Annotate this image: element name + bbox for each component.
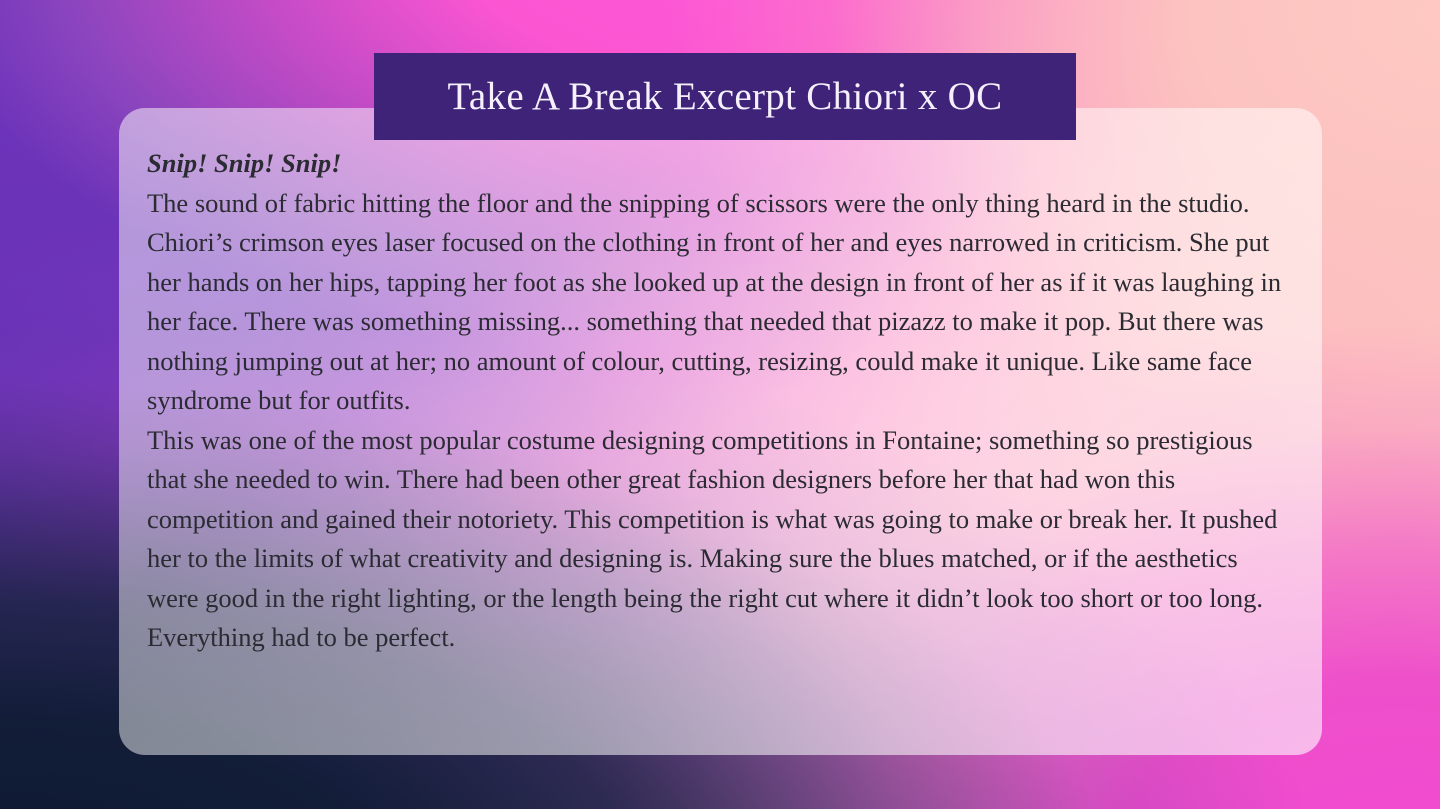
excerpt-paragraph-1: The sound of fabric hitting the floor an… xyxy=(147,184,1292,421)
page-root: Take A Break Excerpt Chiori x OC Snip! S… xyxy=(0,0,1440,809)
excerpt-lede: Snip! Snip! Snip! xyxy=(147,144,1292,184)
page-title: Take A Break Excerpt Chiori x OC xyxy=(448,77,1003,116)
excerpt-text-body: Snip! Snip! Snip! The sound of fabric hi… xyxy=(147,144,1292,658)
excerpt-card: Snip! Snip! Snip! The sound of fabric hi… xyxy=(119,108,1322,755)
excerpt-paragraph-2: This was one of the most popular costume… xyxy=(147,421,1292,658)
title-banner: Take A Break Excerpt Chiori x OC xyxy=(374,53,1076,140)
